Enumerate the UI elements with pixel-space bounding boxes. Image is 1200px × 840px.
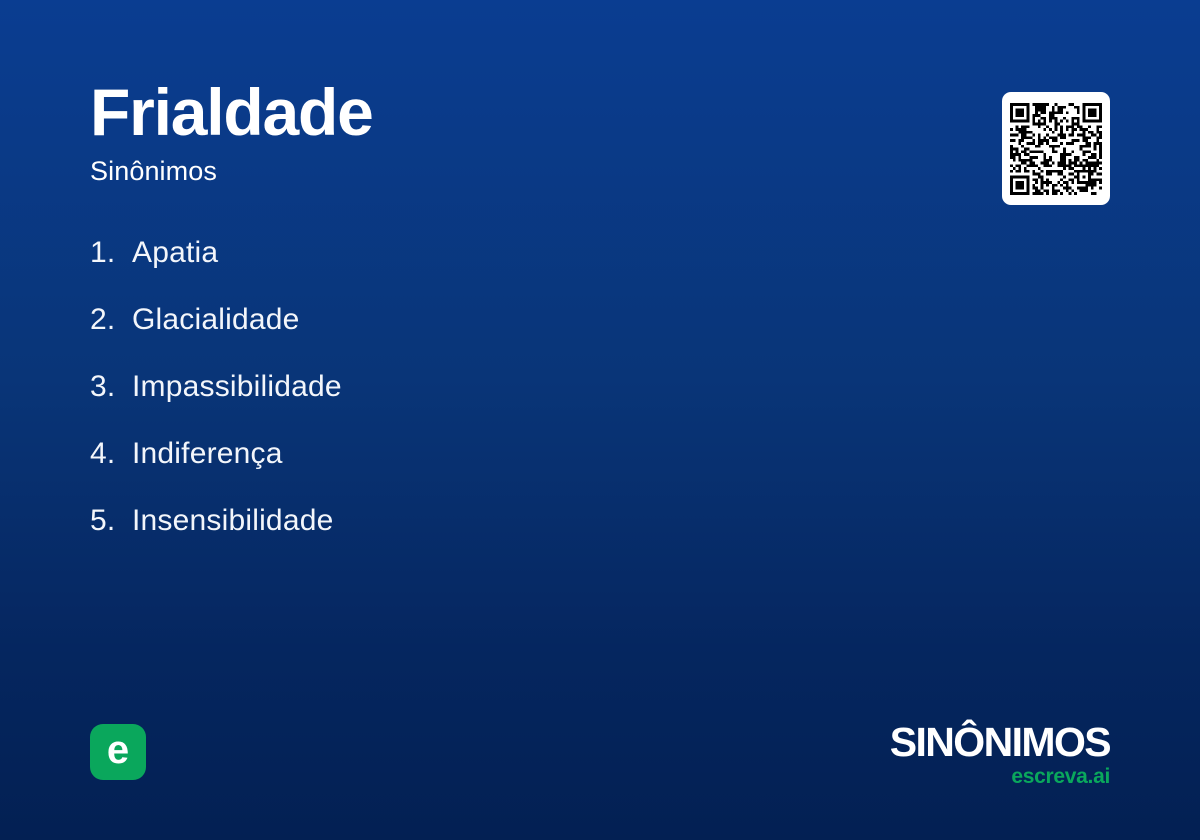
card-header: Frialdade Sinônimos <box>90 78 910 187</box>
escreva-logo-badge[interactable]: e <box>90 724 146 780</box>
list-item-word: Apatia <box>132 236 218 270</box>
brand-domain: escreva.ai <box>890 766 1110 787</box>
list-item-word: Glacialidade <box>132 303 300 337</box>
list-item-word: Impassibilidade <box>132 370 342 404</box>
list-item-index: 5. <box>90 504 132 538</box>
synonym-list: 1. Apatia 2. Glacialidade 3. Impassibili… <box>90 236 950 571</box>
list-item-word: Indiferença <box>132 437 283 471</box>
page-subtitle: Sinônimos <box>90 156 910 187</box>
brand-lockup: SINÔNIMOS escreva.ai <box>890 722 1110 787</box>
list-item-index: 2. <box>90 303 132 337</box>
brand-wordmark: SINÔNIMOS <box>890 722 1110 763</box>
list-item-index: 4. <box>90 437 132 471</box>
list-item: 5. Insensibilidade <box>90 504 950 571</box>
synonym-card: Frialdade Sinônimos 1. Apatia 2. Glacial… <box>0 0 1200 840</box>
list-item: 2. Glacialidade <box>90 303 950 370</box>
list-item: 3. Impassibilidade <box>90 370 950 437</box>
list-item-word: Insensibilidade <box>132 504 333 538</box>
list-item-index: 3. <box>90 370 132 404</box>
list-item: 1. Apatia <box>90 236 950 303</box>
list-item: 4. Indiferença <box>90 437 950 504</box>
badge-letter: e <box>107 730 129 770</box>
page-title: Frialdade <box>90 78 910 148</box>
qr-code-card[interactable] <box>1002 92 1110 205</box>
qr-code-icon <box>1010 103 1102 195</box>
list-item-index: 1. <box>90 236 132 270</box>
